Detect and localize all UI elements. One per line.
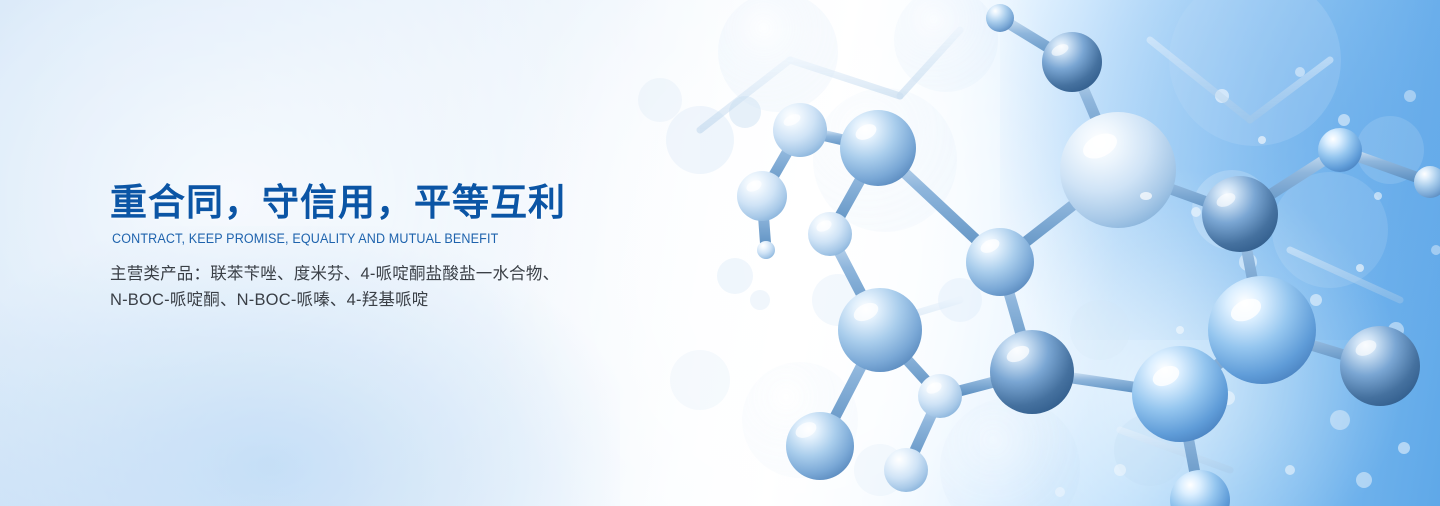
molecule-sphere — [986, 4, 1014, 32]
molecule-sphere — [966, 228, 1034, 296]
molecule-sphere — [737, 171, 787, 221]
molecule-sphere — [990, 330, 1074, 414]
promo-banner: 重合同，守信用，平等互利 CONTRACT, KEEP PROMISE, EQU… — [0, 0, 1440, 506]
page-title: 重合同，守信用，平等互利 — [110, 182, 690, 223]
molecule-sphere — [808, 212, 852, 256]
molecule-sphere — [786, 412, 854, 480]
molecule-sphere — [1202, 176, 1278, 252]
product-description-line-2: N-BOC-哌啶酮、N-BOC-哌嗪、4-羟基哌啶 — [110, 288, 690, 314]
molecule-sphere — [838, 288, 922, 372]
molecule-sphere — [1208, 276, 1316, 384]
molecule-sphere — [1318, 128, 1362, 172]
molecule-sphere — [1170, 470, 1230, 506]
molecule-sphere — [1042, 32, 1102, 92]
molecule-sphere — [1132, 346, 1228, 442]
banner-text-block: 重合同，守信用，平等互利 CONTRACT, KEEP PROMISE, EQU… — [110, 182, 690, 314]
product-description-line-1: 主营类产品：联苯苄唑、度米芬、4-哌啶酮盐酸盐一水合物、 — [110, 262, 690, 288]
molecule-sphere — [918, 374, 962, 418]
product-description: 主营类产品：联苯苄唑、度米芬、4-哌啶酮盐酸盐一水合物、 N-BOC-哌啶酮、N… — [110, 262, 690, 313]
molecule-sphere — [773, 103, 827, 157]
molecule-sphere — [840, 110, 916, 186]
molecule-sphere — [1060, 112, 1176, 228]
molecule-sphere — [884, 448, 928, 492]
molecule-sphere — [1414, 166, 1440, 198]
molecule-sphere — [1340, 326, 1420, 406]
subtitle-english: CONTRACT, KEEP PROMISE, EQUALITY AND MUT… — [112, 231, 650, 246]
molecule-sphere — [757, 241, 775, 259]
